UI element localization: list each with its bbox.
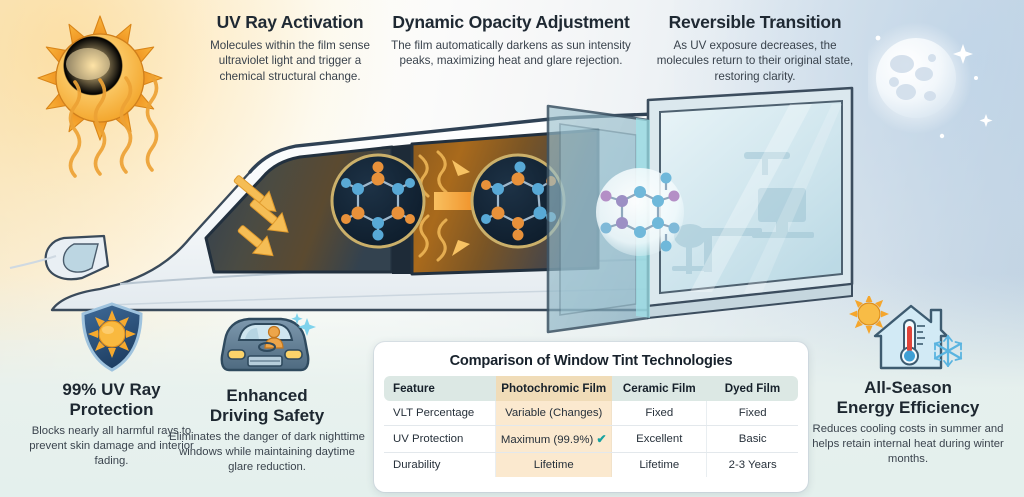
feature-title: All-Season Energy Efficiency [806,378,1010,417]
cell-ceramic: Fixed [612,401,707,426]
infographic-canvas: UV Ray Activation Molecules within the f… [0,0,1024,497]
cell-feature: VLT Percentage [384,401,496,426]
feature-description: Reduces cooling costs in summer and help… [806,422,1010,467]
uv-heat-rays [71,76,157,176]
cell-photochromic: Maximum (99.9%) ✔ [496,426,612,453]
column-header-photochromic-film: Photochromic Film [496,376,612,401]
column-header-ceramic-film: Ceramic Film [612,376,707,401]
table-row: VLT Percentage Variable (Changes) Fixed … [384,401,798,426]
section-title: Reversible Transition [652,12,858,33]
table-row: Durability Lifetime Lifetime 2-3 Years [384,453,798,478]
table-row: UV Protection Maximum (99.9%) ✔ Excellen… [384,426,798,453]
cell-ceramic: Lifetime [612,453,707,478]
comparison-table: Feature Photochromic Film Ceramic Film D… [384,376,798,477]
cell-feature: Durability [384,453,496,478]
cell-ceramic: Excellent [612,426,707,453]
feature-description: Eliminates the danger of dark nighttime … [166,430,368,475]
cell-photochromic: Lifetime [496,453,612,478]
house-thermometer-icon [806,298,1010,372]
cell-dyed: 2-3 Years [707,453,798,478]
molecule-clear [332,155,424,247]
feature-energy-efficiency: All-Season Energy Efficiency Reduces coo… [806,298,1010,467]
table-caption: Comparison of Window Tint Technologies [384,353,798,369]
check-icon: ✔ [596,432,606,446]
table-header-row: Feature Photochromic Film Ceramic Film D… [384,376,798,401]
feature-title: Enhanced Driving Safety [166,386,368,425]
column-header-dyed-film: Dyed Film [707,376,798,401]
section-title: Dynamic Opacity Adjustment [388,12,634,33]
side-mirror [46,236,108,279]
car-front-driver-icon [166,306,368,380]
cell-feature: UV Protection [384,426,496,453]
molecule-transitioning [596,168,684,256]
comparison-table-card: Comparison of Window Tint Technologies F… [374,342,808,492]
section-title: UV Ray Activation [196,12,384,33]
cell-photochromic: Variable (Changes) [496,401,612,426]
cell-dyed: Basic [707,426,798,453]
cell-dyed: Fixed [707,401,798,426]
column-header-feature: Feature [384,376,496,401]
feature-driving-safety: Enhanced Driving Safety Eliminates the d… [166,306,368,475]
